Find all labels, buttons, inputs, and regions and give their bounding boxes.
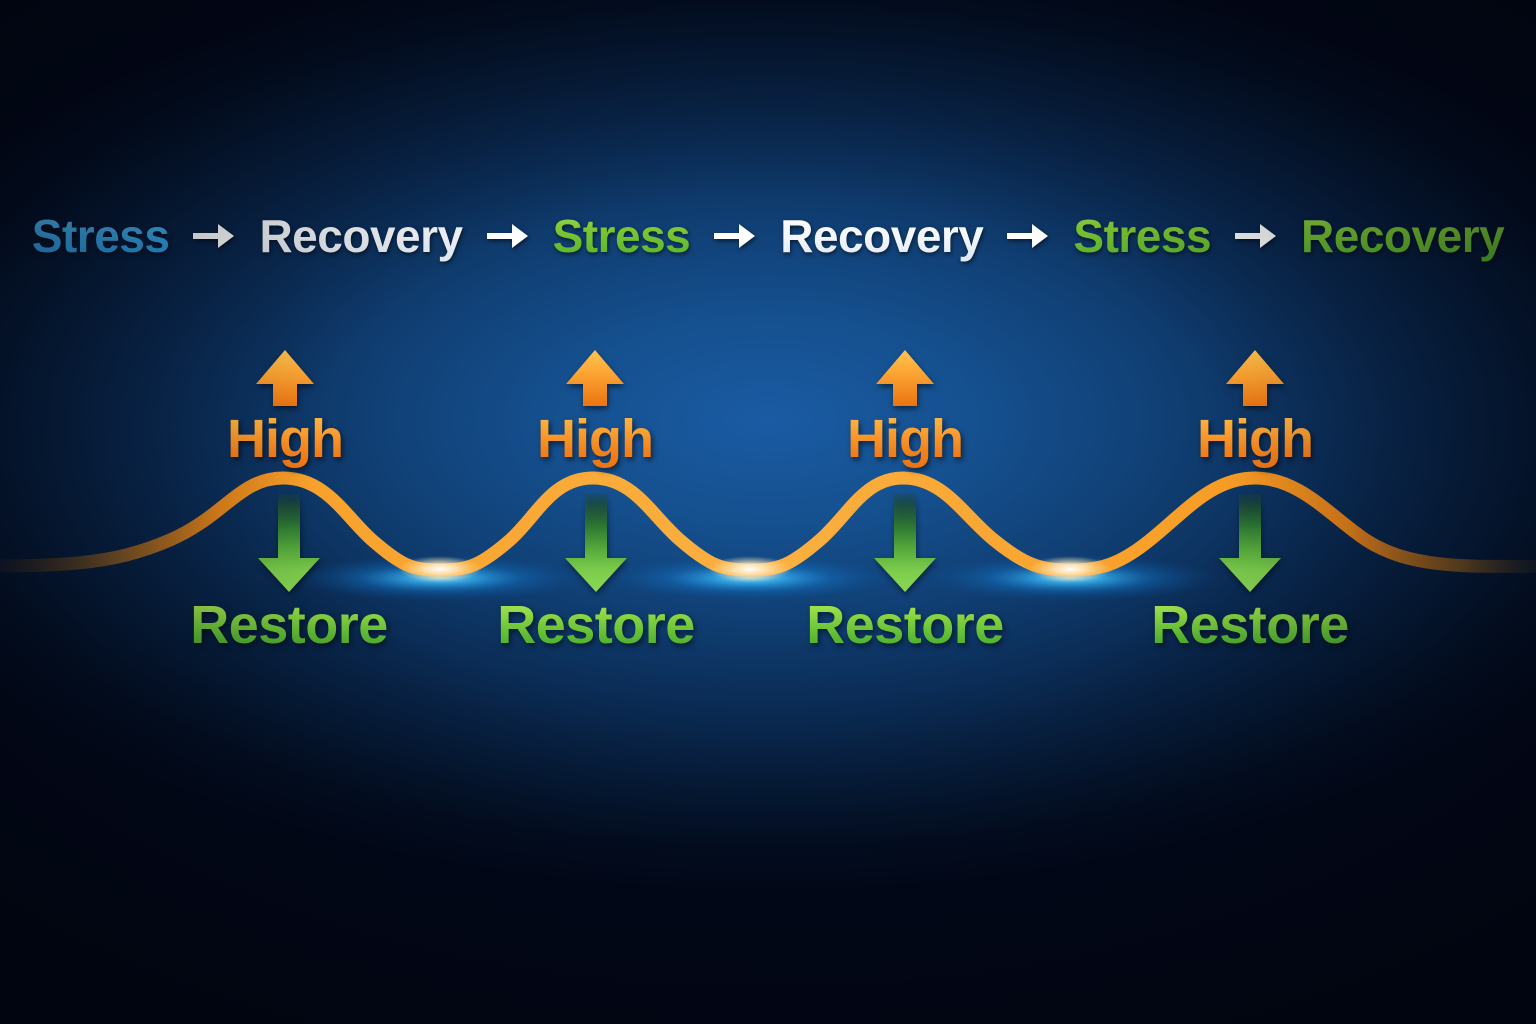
down-arrow-icon (256, 494, 322, 594)
down-arrow-icon (563, 494, 629, 594)
sequence-arrow-icon-2 (471, 221, 545, 251)
trough-glow-group (290, 554, 1220, 602)
up-arrow-icon (564, 348, 626, 408)
down-arrow-icon (1217, 494, 1283, 594)
sequence-word-recovery-1: Recovery (251, 206, 470, 266)
sequence-arrow-icon-3 (698, 221, 772, 251)
sequence-word-recovery-3: Recovery (1293, 206, 1512, 266)
sequence-word-recovery-2: Recovery (772, 206, 991, 266)
up-arrow-icon (254, 348, 316, 408)
restore-marker-2: Restore (466, 494, 726, 654)
up-arrow-icon (874, 348, 936, 408)
restore-marker-4: Restore (1120, 494, 1380, 654)
high-label: High (175, 410, 395, 468)
up-arrow-icon (1224, 348, 1286, 408)
high-marker-1: High (175, 348, 395, 468)
restore-label: Restore (466, 596, 726, 654)
sequence-arrow-icon-5 (1219, 221, 1293, 251)
restore-marker-1: Restore (159, 494, 419, 654)
high-label: High (1145, 410, 1365, 468)
diagram-canvas: Stress Recovery Stress Recovery Stress R… (0, 0, 1536, 1024)
sequence-arrow-icon-4 (991, 221, 1065, 251)
high-marker-3: High (795, 348, 1015, 468)
high-marker-4: High (1145, 348, 1365, 468)
sequence-word-stress-3: Stress (1065, 206, 1219, 266)
restore-label: Restore (775, 596, 1035, 654)
high-label: High (485, 410, 705, 468)
high-marker-2: High (485, 348, 705, 468)
sequence-arrow-icon-1 (177, 221, 251, 251)
restore-label: Restore (1120, 596, 1380, 654)
stress-recovery-sequence: Stress Recovery Stress Recovery Stress R… (0, 206, 1536, 266)
down-arrow-icon (872, 494, 938, 594)
restore-marker-3: Restore (775, 494, 1035, 654)
restore-label: Restore (159, 596, 419, 654)
high-label: High (795, 410, 1015, 468)
sequence-word-stress-2: Stress (545, 206, 699, 266)
sequence-word-stress-1: Stress (24, 206, 178, 266)
